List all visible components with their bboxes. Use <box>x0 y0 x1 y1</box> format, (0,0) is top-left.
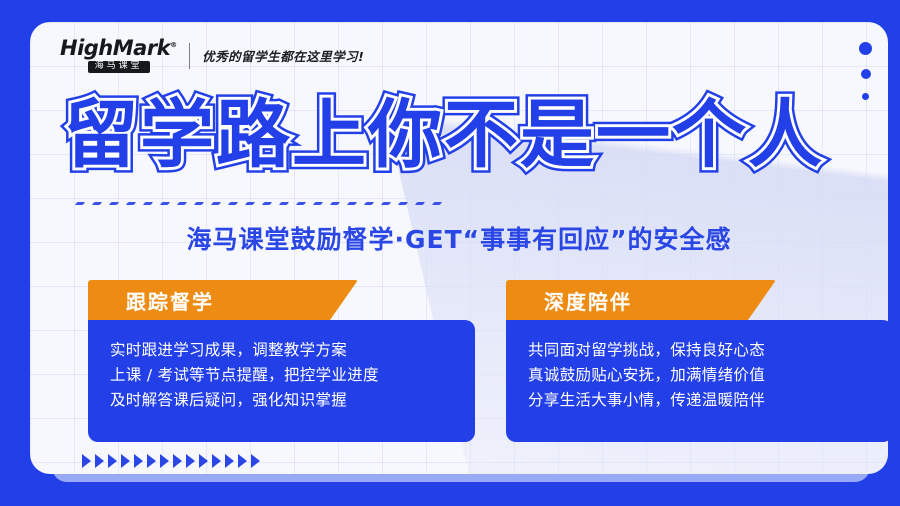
header-divider <box>189 43 190 69</box>
subtitle: 海马课堂鼓励督学·GET“事事有回应”的安全感 <box>30 220 888 256</box>
dot-small <box>862 93 869 100</box>
white-content-panel: HighMark® 海马课堂 优秀的留学生都在这里学习! 留学路上你不是一个人 … <box>30 22 888 474</box>
dash-mark <box>262 202 272 205</box>
logo: HighMark® 海马课堂 <box>60 38 177 73</box>
arrow-right-icon <box>251 454 260 468</box>
feature-cards: 跟踪督学 实时跟进学习成果，调整教学方案 上课 / 考试等节点提醒，把控学业进度… <box>88 280 888 442</box>
arrow-right-icon <box>95 454 104 468</box>
logo-subtitle: 海马课堂 <box>88 61 150 73</box>
arrow-right-icon <box>121 454 130 468</box>
card-tracking: 跟踪督学 实时跟进学习成果，调整教学方案 上课 / 考试等节点提醒，把控学业进度… <box>88 280 475 442</box>
card-line: 共同面对留学挑战，保持良好心态 <box>528 338 873 363</box>
arrow-right-icon <box>147 454 156 468</box>
dash-mark <box>75 202 85 205</box>
card-line: 真诚鼓励贴心安抚，加满情绪价值 <box>528 363 873 388</box>
dash-mark <box>194 202 204 205</box>
card-line: 分享生活大事小情，传递温暖陪伴 <box>528 388 873 413</box>
dash-mark <box>109 202 119 205</box>
dash-mark <box>228 202 238 205</box>
card-line: 及时解答课后疑问，强化知识掌握 <box>110 388 455 413</box>
arrow-right-icon <box>160 454 169 468</box>
arrow-right-icon <box>173 454 182 468</box>
arrow-right-icon <box>186 454 195 468</box>
dash-mark <box>245 202 255 205</box>
arrow-right-icon <box>225 454 234 468</box>
dash-mark <box>279 202 289 205</box>
brand-tagline: 优秀的留学生都在这里学习! <box>202 46 364 65</box>
arrow-decoration-row <box>82 454 260 468</box>
dash-mark <box>177 202 187 205</box>
dash-mark <box>398 202 408 205</box>
dash-mark <box>211 202 221 205</box>
dash-mark <box>415 202 425 205</box>
headline-fill: 留学路上你不是一个人 <box>64 98 824 172</box>
poster-canvas: HighMark® 海马课堂 优秀的留学生都在这里学习! 留学路上你不是一个人 … <box>0 0 900 506</box>
dash-mark <box>364 202 374 205</box>
arrow-right-icon <box>108 454 117 468</box>
dash-mark <box>432 202 442 205</box>
arrow-right-icon <box>199 454 208 468</box>
dash-mark <box>313 202 323 205</box>
brand-header: HighMark® 海马课堂 优秀的留学生都在这里学习! <box>60 38 364 73</box>
logo-wordmark: HighMark® <box>60 38 177 59</box>
dot-large <box>859 42 872 55</box>
dash-mark <box>296 202 306 205</box>
headline: 留学路上你不是一个人 留学路上你不是一个人 留学路上你不是一个人 <box>64 98 824 172</box>
card-companionship-body: 共同面对留学挑战，保持良好心态 真诚鼓励贴心安抚，加满情绪价值 分享生活大事小情… <box>506 320 888 442</box>
dash-mark <box>143 202 153 205</box>
arrow-right-icon <box>238 454 247 468</box>
card-tracking-body: 实时跟进学习成果，调整教学方案 上课 / 考试等节点提醒，把控学业进度 及时解答… <box>88 320 475 442</box>
dashed-rule <box>76 196 866 210</box>
dot-medium <box>861 69 871 79</box>
card-companionship: 深度陪伴 共同面对留学挑战，保持良好心态 真诚鼓励贴心安抚，加满情绪价值 分享生… <box>506 280 888 442</box>
card-line: 上课 / 考试等节点提醒，把控学业进度 <box>110 363 455 388</box>
dash-mark <box>330 202 340 205</box>
dash-mark <box>381 202 391 205</box>
dot-decoration-column <box>859 42 872 100</box>
card-line: 实时跟进学习成果，调整教学方案 <box>110 338 455 363</box>
dash-mark <box>347 202 357 205</box>
arrow-right-icon <box>82 454 91 468</box>
card-tracking-title: 跟踪督学 <box>88 280 358 320</box>
arrow-right-icon <box>134 454 143 468</box>
logo-trademark: ® <box>170 41 177 49</box>
dash-mark <box>92 202 102 205</box>
dash-mark <box>126 202 136 205</box>
arrow-right-icon <box>212 454 221 468</box>
dash-mark <box>160 202 170 205</box>
logo-wordmark-text: HighMark <box>60 36 170 60</box>
card-companionship-title: 深度陪伴 <box>506 280 776 320</box>
